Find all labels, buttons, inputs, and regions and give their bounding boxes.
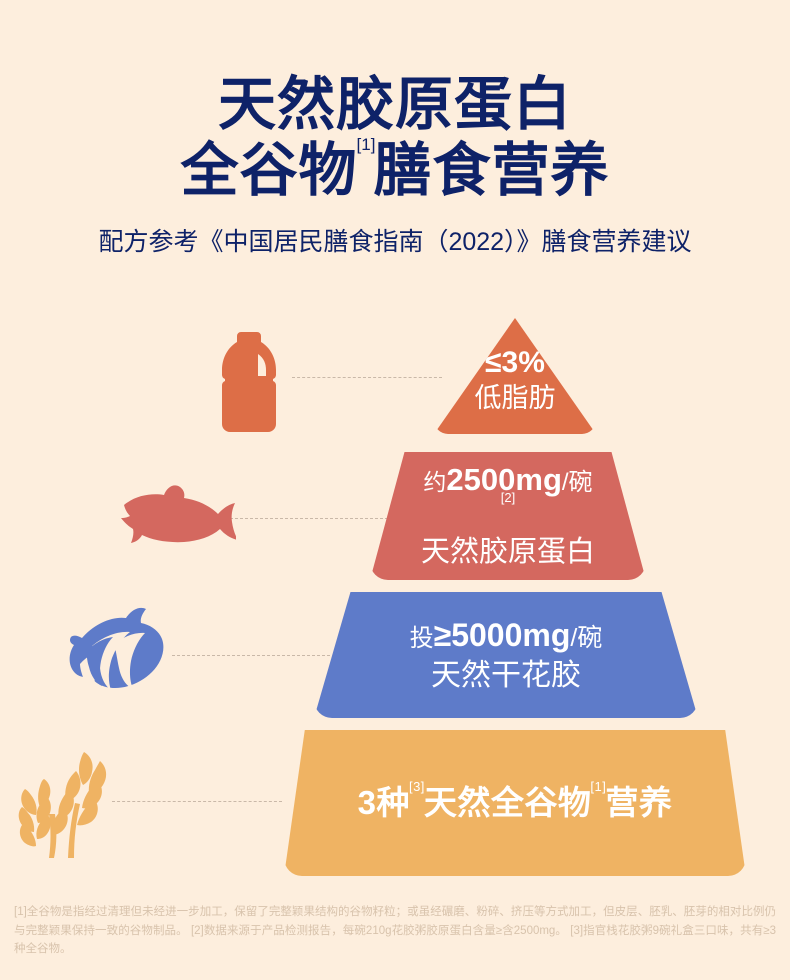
page-title-line-2: 全谷物[1]膳食营养 <box>0 142 790 200</box>
page-subtitle: 配方参考《中国居民膳食指南（2022）》膳食营养建议 <box>0 222 790 258</box>
layer-collagen-prefix: 约 <box>423 469 446 495</box>
layer-whole-grain-count: 3种 <box>358 784 410 821</box>
pyramid-layer-low-fat[interactable]: ≤3% 低脂肪 <box>434 318 596 434</box>
layer-collagen-unit: /碗 <box>562 469 593 496</box>
page-title-line-2-part-a: 全谷物 <box>181 138 358 203</box>
layer-fish-maw-prefix: 投 <box>410 625 434 652</box>
layer-collagen-value-line: 约2500mg/碗[2] <box>417 463 599 532</box>
pyramid-layer-collagen[interactable]: 约2500mg/碗[2] 天然胶原蛋白 <box>370 452 646 580</box>
wheat-icon <box>8 748 126 860</box>
pyramid-layer-whole-grain[interactable]: 3种[3]天然全谷物[1]营养 <box>284 730 746 876</box>
bottle-icon <box>214 332 284 432</box>
layer-fish-maw-unit: /碗 <box>570 624 602 652</box>
connector-line-whole-grain <box>112 801 282 802</box>
layer-fish-maw-label: 天然干花胶 <box>431 659 581 693</box>
connector-line-low-fat <box>292 377 442 378</box>
layer-whole-grain-suffix: 营养 <box>605 784 672 821</box>
fish-icon <box>118 478 236 556</box>
layer-low-fat-label: 低脂肪 <box>475 383 556 413</box>
layer-low-fat-value: ≤3% <box>485 346 545 380</box>
layer-whole-grain-text: 天然全谷物 <box>424 784 592 821</box>
poster-page: 天然胶原蛋白 全谷物[1]膳食营养 配方参考《中国居民膳食指南（2022）》膳食… <box>0 0 790 980</box>
layer-collagen-footnote-ref: [2] <box>501 490 515 505</box>
layer-collagen-value: 2500mg <box>446 462 561 497</box>
fish-maw-icon <box>62 604 174 702</box>
page-title-line-1: 天然胶原蛋白 <box>0 76 790 134</box>
layer-whole-grain-line: 3种[3]天然全谷物[1]营养 <box>358 785 673 822</box>
page-title-footnote-ref: [1] <box>357 135 376 154</box>
layer-whole-grain-footnote-ref-1: [1] <box>590 779 606 794</box>
layer-fish-maw-value-line: 投≥5000mg/碗 <box>410 618 603 654</box>
connector-line-fish-maw <box>172 655 330 656</box>
layer-fish-maw-value: ≥5000mg <box>434 617 571 653</box>
page-title-line-2-part-b: 膳食营养 <box>373 138 609 203</box>
connector-line-collagen <box>230 518 388 519</box>
footnotes: [1]全谷物是指经过清理但未经进一步加工，保留了完整颖果结构的谷物籽粒；或虽经碾… <box>14 903 776 959</box>
pyramid-layer-fish-maw[interactable]: 投≥5000mg/碗 天然干花胶 <box>314 592 698 718</box>
layer-whole-grain-footnote-ref-3: [3] <box>409 779 425 794</box>
layer-collagen-label: 天然胶原蛋白 <box>421 536 595 568</box>
